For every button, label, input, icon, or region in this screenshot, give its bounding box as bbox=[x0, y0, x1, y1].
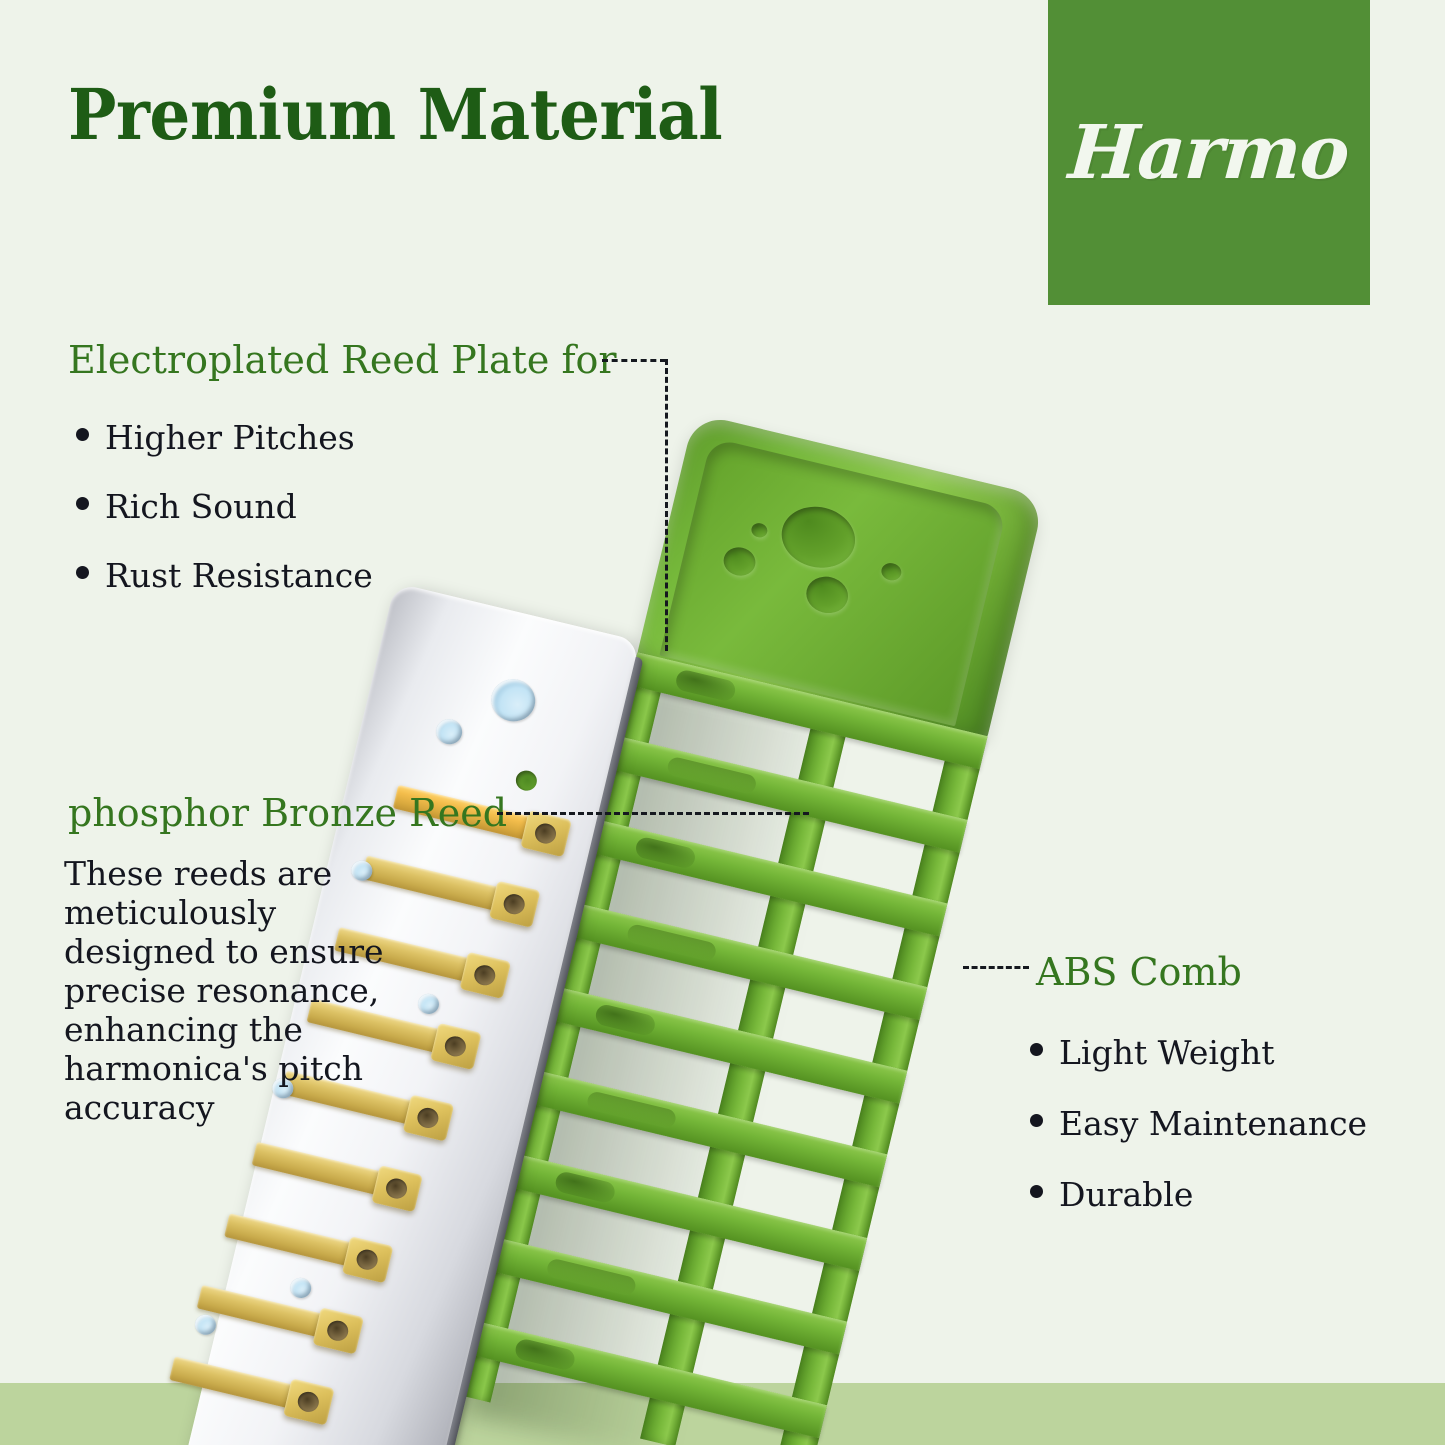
rivet-pad bbox=[430, 1023, 482, 1070]
leader-line-reed-plate-horizontal bbox=[602, 359, 666, 362]
bullet-list-reed-plate: Higher Pitches Rich Sound Rust Resistanc… bbox=[76, 418, 373, 625]
comb-rail bbox=[774, 728, 987, 1445]
bullet-dot-icon bbox=[76, 428, 89, 441]
countersunk-hole bbox=[288, 1276, 313, 1300]
harmonica-comb bbox=[459, 413, 1045, 1445]
comb-tine bbox=[630, 652, 988, 769]
rivet-pad bbox=[459, 952, 511, 999]
leader-line-reed-horizontal bbox=[497, 812, 809, 815]
plate-cast-shadow bbox=[465, 675, 847, 1445]
list-item: Easy Maintenance bbox=[1030, 1104, 1367, 1143]
reed-plate-edge bbox=[429, 657, 643, 1445]
rivet-pad bbox=[520, 810, 572, 857]
comb-tine bbox=[529, 1070, 887, 1187]
list-item-label: Higher Pitches bbox=[105, 418, 355, 457]
leader-line-reed-plate-vertical bbox=[665, 359, 668, 651]
comb-boss bbox=[750, 522, 769, 539]
callout-heading-abs-comb: ABS Comb bbox=[1036, 950, 1242, 994]
rivet-pad bbox=[342, 1236, 394, 1283]
comb-boss bbox=[775, 499, 861, 575]
countersunk-hole bbox=[434, 717, 465, 747]
brass-reed bbox=[224, 1213, 354, 1266]
list-item-label: Rust Resistance bbox=[105, 556, 373, 595]
page-title: Premium Material bbox=[68, 80, 722, 150]
callout-paragraph-phosphor-bronze-reed: These reeds are meticulously designed to… bbox=[64, 855, 394, 1128]
list-item: Higher Pitches bbox=[76, 418, 373, 457]
bullet-dot-icon bbox=[1030, 1114, 1043, 1127]
list-item-label: Rich Sound bbox=[105, 487, 297, 526]
leader-line-abs-comb-horizontal bbox=[963, 966, 1029, 969]
list-item: Rich Sound bbox=[76, 487, 373, 526]
brand-logo-block: Harmo bbox=[1048, 0, 1370, 305]
countersunk-hole bbox=[416, 992, 441, 1016]
comb-tine bbox=[610, 736, 968, 853]
countersunk-hole bbox=[487, 675, 540, 726]
bullet-dot-icon bbox=[76, 497, 89, 510]
comb-well-inner bbox=[659, 438, 1007, 727]
rivet-pad bbox=[403, 1094, 455, 1141]
comb-boss bbox=[803, 572, 852, 617]
comb-boss bbox=[880, 561, 903, 582]
bullet-dot-icon bbox=[1030, 1043, 1043, 1056]
countersunk-hole bbox=[514, 768, 539, 792]
bullet-list-abs-comb: Light Weight Easy Maintenance Durable bbox=[1030, 1033, 1367, 1246]
comb-tine bbox=[549, 987, 907, 1104]
brass-reed bbox=[252, 1142, 384, 1196]
brand-wordmark: Harmo bbox=[1066, 110, 1352, 196]
list-item: Rust Resistance bbox=[76, 556, 373, 595]
bullet-dot-icon bbox=[1030, 1185, 1043, 1198]
comb-rail bbox=[640, 696, 853, 1445]
bullet-dot-icon bbox=[76, 566, 89, 579]
list-item-label: Easy Maintenance bbox=[1059, 1104, 1367, 1143]
bottom-accent-band bbox=[0, 1383, 1445, 1445]
countersunk-hole bbox=[193, 1313, 218, 1337]
rivet-pad bbox=[489, 881, 541, 928]
comb-tine bbox=[489, 1238, 847, 1355]
list-item-label: Light Weight bbox=[1059, 1033, 1275, 1072]
comb-tine bbox=[589, 819, 947, 936]
comb-slot-ladder bbox=[459, 652, 987, 1445]
list-item-label: Durable bbox=[1059, 1175, 1193, 1214]
rivet-pad bbox=[371, 1165, 423, 1212]
list-item: Light Weight bbox=[1030, 1033, 1367, 1072]
callout-heading-phosphor-bronze-reed: phosphor Bronze Reed bbox=[68, 791, 507, 835]
comb-boss bbox=[721, 544, 759, 579]
brass-reed bbox=[197, 1285, 325, 1338]
rivet-pad bbox=[312, 1307, 364, 1354]
comb-rail bbox=[459, 652, 668, 1402]
comb-tine bbox=[509, 1154, 867, 1271]
list-item: Durable bbox=[1030, 1175, 1367, 1214]
comb-top-well bbox=[637, 413, 1045, 740]
infographic-canvas: Harmo Premium Material Electroplated Ree… bbox=[0, 0, 1445, 1445]
callout-heading-reed-plate: Electroplated Reed Plate for bbox=[68, 338, 617, 382]
comb-tine bbox=[569, 903, 927, 1020]
